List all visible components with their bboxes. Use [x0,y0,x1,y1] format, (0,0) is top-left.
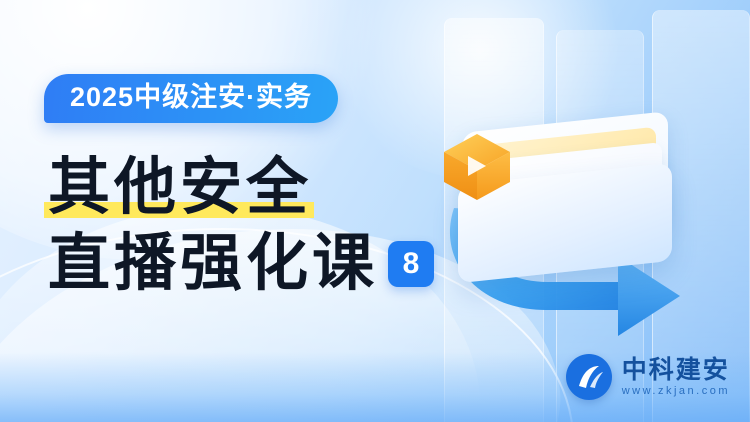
headline-line-1-text: 其他安全 [48,150,312,226]
brand-logo: 中科建安 www.zkjan.com [566,354,730,400]
episode-badge: 8 [388,241,434,287]
course-category-pill: 2025中级注安·实务 [44,74,338,123]
circle-monogram-icon [566,354,612,400]
headline-line-2-text: 直播强化课 [48,226,378,302]
headline-block: 其他安全 直播强化课 8 [48,150,468,302]
brand-logo-text: 中科建安 www.zkjan.com [622,356,730,398]
headline-line-1: 其他安全 [48,150,468,226]
brand-name: 中科建安 [622,356,730,384]
course-promo-banner: 2025中级注安·实务 其他安全 直播强化课 8 中科建安 www.zkjan.… [0,0,750,422]
brand-url: www.zkjan.com [622,384,730,398]
logo-mark-icon [566,354,612,400]
headline-line-2: 直播强化课 8 [48,226,468,302]
